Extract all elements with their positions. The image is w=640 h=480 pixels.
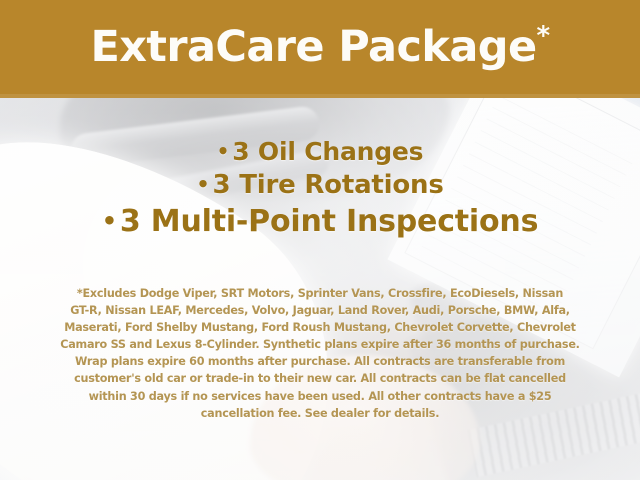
disclaimer-fineprint: *Excludes Dodge Viper, SRT Motors, Sprin… [30,285,610,422]
feature-bullet-item-oil-changes: •3 Oil Changes [0,136,640,169]
disclaimer-line: customer's old car or trade-in to their … [30,370,610,387]
disclaimer-line: Maserati, Ford Shelby Mustang, Ford Rous… [30,319,610,336]
feature-bullet-item-multi-point-inspections: •3 Multi-Point Inspections [0,203,640,242]
disclaimer-line: *Excludes Dodge Viper, SRT Motors, Sprin… [30,285,610,302]
feature-bullet-label: 3 Multi-Point Inspections [120,204,538,239]
page-title: ExtraCare Package* [90,26,549,72]
bullet-dot-icon: • [196,172,212,196]
disclaimer-line: cancellation fee. See dealer for details… [30,405,610,422]
bullet-dot-icon: • [102,207,120,235]
disclaimer-line: GT-R, Nissan LEAF, Mercedes, Volvo, Jagu… [30,302,610,319]
disclaimer-line: Camaro SS and Lexus 8-Cylinder. Syntheti… [30,336,610,353]
feature-bullet-label: 3 Tire Rotations [212,170,443,200]
page-title-text: ExtraCare Package [90,22,536,72]
feature-bullet-label: 3 Oil Changes [232,137,423,166]
header-band: ExtraCare Package* [0,0,640,98]
disclaimer-line: within 30 days if no services have been … [30,388,610,405]
bullet-dot-icon: • [217,139,233,163]
feature-bullet-list: •3 Oil Changes •3 Tire Rotations •3 Mult… [0,136,640,242]
feature-bullet-item-tire-rotations: •3 Tire Rotations [0,169,640,203]
disclaimer-line: Wrap plans expire 60 months after purcha… [30,353,610,370]
page-title-asterisk: * [537,21,550,51]
extracare-package-promo-card: ExtraCare Package* •3 Oil Changes •3 Tir… [0,0,640,480]
